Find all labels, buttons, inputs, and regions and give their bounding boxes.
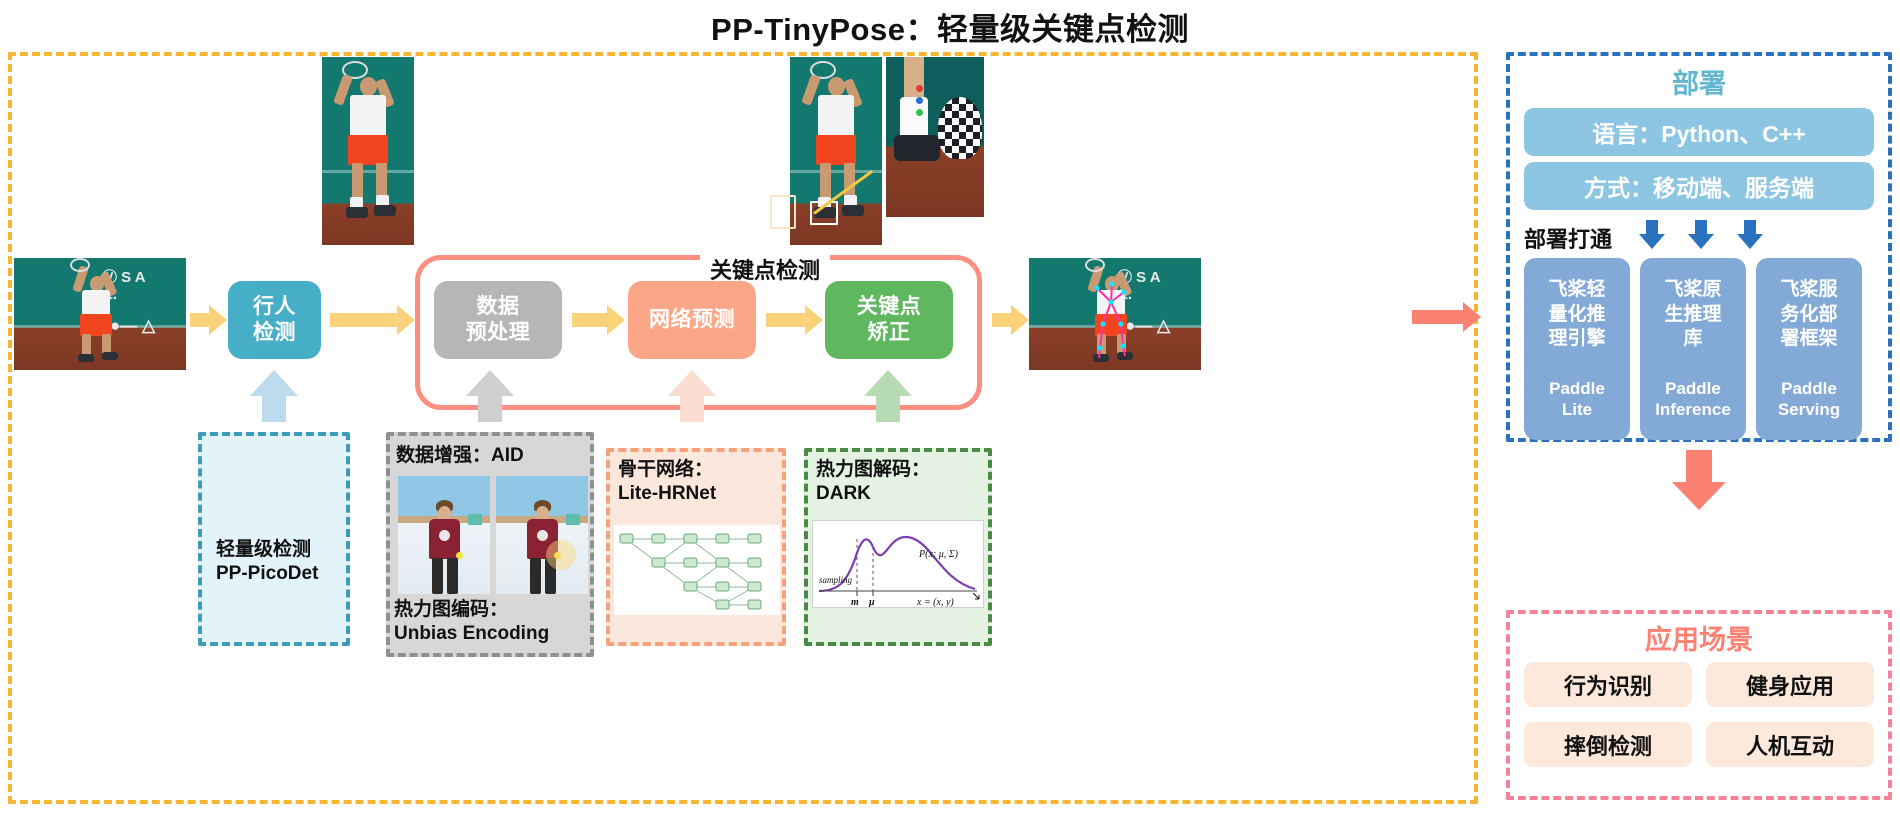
cropped-person-photo [322, 57, 414, 245]
page-title: PP-TinyPose：轻量级关键点检测 [0, 4, 1900, 49]
pipeline-frame [8, 52, 1478, 804]
skeleton-overlay [1029, 258, 1201, 370]
deploy-down-arrow-3 [1737, 220, 1763, 250]
deploy-column-paddle-serving[interactable]: 飞桨服 务化部 署框架 Paddle Serving [1756, 258, 1862, 440]
dark-distribution-plot: sampling m μ P(x; μ, Σ) x = (x, y) [812, 520, 984, 608]
pipeline-box-keypoint-correct[interactable]: 关键点 矫正 [825, 281, 953, 359]
apps-title: 应用场景 [1506, 618, 1892, 657]
flow-arrow-5 [992, 313, 1012, 327]
deploy-column-paddle-inference[interactable]: 飞桨原 生推理 库 Paddle Inference [1640, 258, 1746, 440]
aid-highlight-circle [546, 540, 576, 570]
deploy-column-paddle-lite[interactable]: 飞桨轻 量化推 理引擎 Paddle Lite [1524, 258, 1630, 440]
technique-label-dark: 热力图解码： DARK [816, 458, 930, 506]
deploy-column-en-label: Paddle Inference [1655, 379, 1731, 420]
hrnet-svg [614, 525, 780, 615]
deploy-column-en-label: Paddle Lite [1549, 379, 1605, 420]
svg-text:P(x; μ, Σ): P(x; μ, Σ) [918, 549, 959, 560]
svg-text:x = (x, y): x = (x, y) [916, 597, 954, 607]
pipeline-box-data-preprocess[interactable]: 数据 预处理 [434, 281, 562, 359]
pipeline-box-person-detection[interactable]: 行人 检测 [228, 281, 321, 359]
deploy-column-cn-label: 飞桨轻 量化推 理引擎 [1548, 278, 1605, 352]
zoomed-shoe-photo [886, 57, 984, 217]
aid-thumbnail-original [398, 476, 490, 594]
deploy-band-mode: 方式：移动端、服务端 [1524, 162, 1874, 210]
svg-text:m: m [851, 597, 859, 607]
up-arrow-picodet [250, 370, 298, 422]
hrnet-diagram [614, 525, 780, 615]
technique-label-aid-top: 数据增强：AID [396, 444, 524, 468]
deploy-down-arrow-2 [1688, 220, 1714, 250]
pipeline-box-network-predict[interactable]: 网络预测 [628, 281, 756, 359]
app-chip-action-recognition[interactable]: 行为识别 [1524, 662, 1692, 707]
svg-text:sampling: sampling [819, 575, 853, 585]
ghost-crop-box [770, 195, 796, 229]
deploy-to-apps-arrow [1672, 450, 1726, 510]
technique-label-backbone: 骨干网络： Lite-HRNet [618, 458, 716, 506]
deploy-connect-label: 部署打通 [1524, 222, 1612, 254]
output-photo: Ⓥ S A &. ●— △ [1029, 258, 1201, 370]
technique-label-aid-bottom: 热力图编码： Unbias Encoding [394, 598, 549, 646]
up-arrow-aid [466, 370, 514, 422]
deploy-column-cn-label: 飞桨服 务化部 署框架 [1780, 278, 1837, 352]
flow-arrow-2 [330, 313, 398, 327]
deploy-column-cn-label: 飞桨原 生推理 库 [1664, 278, 1721, 352]
app-chip-fitness[interactable]: 健身应用 [1706, 662, 1874, 707]
technique-label-picodet: 轻量级检测 PP-PicoDet [216, 538, 318, 586]
deploy-down-arrow-1 [1639, 220, 1665, 250]
deploy-column-en-label: Paddle Serving [1778, 379, 1840, 420]
up-arrow-backbone [668, 370, 716, 422]
flow-arrow-1 [190, 313, 210, 327]
flow-arrow-4 [766, 313, 806, 327]
aid-thumbnail-augmented [496, 476, 588, 594]
up-arrow-dark [864, 370, 912, 422]
flow-arrow-3 [572, 313, 608, 327]
arrow-to-deployment [1412, 310, 1464, 324]
svg-text:μ: μ [868, 597, 875, 607]
app-chip-fall-detection[interactable]: 摔倒检测 [1524, 722, 1692, 767]
dark-plot-svg: sampling m μ P(x; μ, Σ) x = (x, y) [813, 521, 983, 607]
app-chip-human-computer-interaction[interactable]: 人机互动 [1706, 722, 1874, 767]
deploy-title: 部署 [1506, 62, 1892, 101]
deploy-band-language: 语言：Python、C++ [1524, 108, 1874, 156]
input-photo: Ⓥ S A &. ●— △ [14, 258, 186, 370]
keypoint-result-photo [790, 57, 882, 245]
